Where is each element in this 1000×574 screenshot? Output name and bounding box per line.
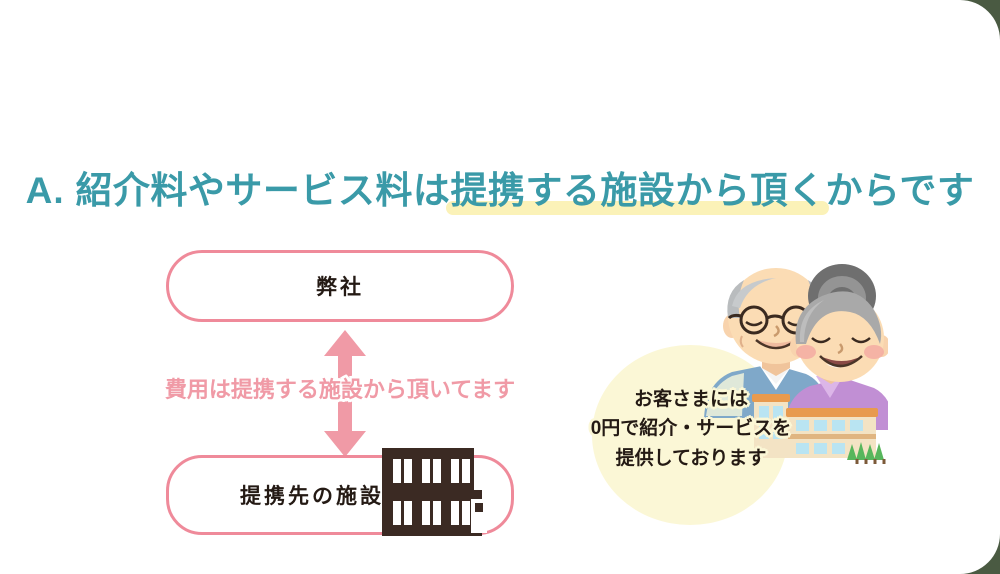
callout-line-2: 0円で紹介・サービスを — [556, 414, 826, 443]
question-label: A. — [26, 170, 65, 211]
building-icon — [378, 448, 502, 536]
answer-card: A. 紹介料やサービス料は提携する施設から頂くからです 弊社 費用は提携する施設… — [0, 0, 1000, 574]
callout-text: お客さまには 0円で紹介・サービスを 提供しております — [556, 385, 826, 473]
page-title: A. 紹介料やサービス料は提携する施設から頂くからです — [0, 160, 1000, 214]
callout-line-1: お客さまには — [556, 385, 826, 414]
title-text-after: からです — [825, 170, 974, 211]
title-highlighted-text: 提携する施設から頂く — [450, 160, 825, 214]
title-text-before: 紹介料やサービス料は — [75, 170, 450, 211]
diagram-box-company-label: 弊社 — [316, 271, 364, 301]
diagram-box-partner-facility-label: 提携先の施設 — [240, 480, 384, 510]
callout-line-3: 提供しております — [556, 444, 826, 473]
diagram-box-company: 弊社 — [166, 250, 514, 322]
